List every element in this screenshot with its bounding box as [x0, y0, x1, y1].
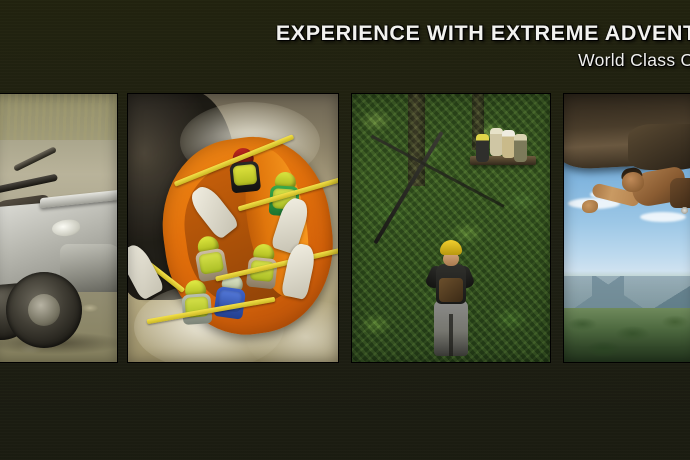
zipline-photo — [352, 94, 550, 362]
rafting-photo — [128, 94, 338, 362]
gallery-item-zipline[interactable]: Zipline Canopy Tour — [351, 93, 551, 363]
rider-legs — [434, 300, 468, 356]
climber — [616, 164, 690, 226]
helmet-icon — [440, 240, 462, 255]
gallery-item-atv[interactable]: ATV / Quad Bike Offroad — [0, 93, 118, 363]
zipline-rider — [426, 240, 474, 358]
atv-photo — [0, 94, 117, 362]
platform-person — [476, 134, 489, 162]
page-title: EXPERIENCE WITH EXTREME ADVENTURE — [0, 20, 690, 46]
hero-header: EXPERIENCE WITH EXTREME ADVENTURE World … — [0, 20, 690, 72]
climber-hand — [582, 200, 598, 213]
rafter-person — [178, 279, 215, 327]
platform-person — [514, 134, 527, 162]
atv-grass — [0, 94, 117, 140]
activity-gallery: ATV / Quad Bike Offroad — [0, 93, 690, 363]
gallery-item-rafting[interactable]: Whitewater Rafting — [127, 93, 339, 363]
climbing-photo — [564, 94, 690, 362]
life-vest — [232, 164, 257, 186]
page-canvas: EXPERIENCE WITH EXTREME ADVENTURE World … — [0, 0, 690, 460]
valley-landscape — [564, 308, 690, 362]
rider-harness — [439, 278, 463, 302]
climbing-gear-icon — [678, 200, 690, 226]
gallery-item-climbing[interactable]: Rock Climbing — [563, 93, 690, 363]
atv-front-wheel — [6, 272, 82, 348]
climber-head — [622, 172, 644, 192]
page-subtitle: World Class Operator — [0, 48, 690, 72]
